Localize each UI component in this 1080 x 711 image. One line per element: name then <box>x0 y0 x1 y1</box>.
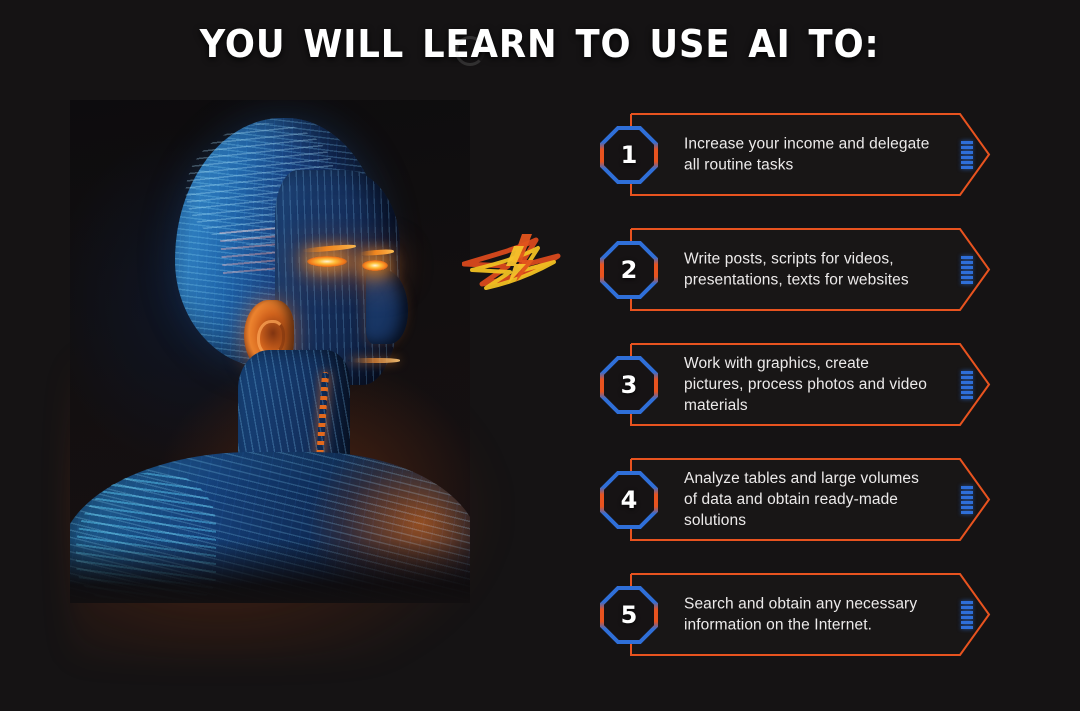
list-item[interactable]: 5 Search and obtain any necessary inform… <box>600 566 1000 663</box>
mouth-line <box>348 358 400 363</box>
list-item-text: Analyze tables and large volumes of data… <box>684 467 932 531</box>
learning-points-list: 1 Increase your income and delegate all … <box>600 106 1000 681</box>
glowing-eye-right <box>362 260 388 271</box>
list-item[interactable]: 2 Write posts, scripts for videos, prese… <box>600 221 1000 318</box>
banner-tick-marks <box>961 486 973 514</box>
ai-humanoid-image <box>70 100 470 603</box>
banner-tick-marks <box>961 371 973 399</box>
page-title: YOU WILL LEARN TO USE AI TO: <box>200 22 880 66</box>
banner-tick-marks <box>961 141 973 169</box>
list-item-text: Search and obtain any necessary informat… <box>684 593 932 636</box>
list-item-number: 2 <box>600 241 658 299</box>
banner-tick-marks <box>961 256 973 284</box>
list-item-number-badge[interactable]: 3 <box>600 356 658 414</box>
list-item[interactable]: 4 Analyze tables and large volumes of da… <box>600 451 1000 548</box>
list-item-number: 1 <box>600 126 658 184</box>
page-title-container: YOU WILL LEARN TO USE AI TO: <box>0 22 1080 66</box>
list-item-number-badge[interactable]: 5 <box>600 586 658 644</box>
glowing-eye-left <box>307 256 347 267</box>
list-item-text: Increase your income and delegate all ro… <box>684 133 932 176</box>
list-item-number-badge[interactable]: 4 <box>600 471 658 529</box>
nose-shape <box>366 270 408 344</box>
list-item-number: 3 <box>600 356 658 414</box>
list-item-number-badge[interactable]: 1 <box>600 126 658 184</box>
list-item[interactable]: 1 Increase your income and delegate all … <box>600 106 1000 203</box>
list-item-number: 4 <box>600 471 658 529</box>
infographic-slide: YOU WILL LEARN TO USE AI TO: <box>0 0 1080 711</box>
list-item-text: Write posts, scripts for videos, present… <box>684 248 932 291</box>
lightning-bolt-icon <box>462 226 586 304</box>
image-bottom-fade <box>70 539 470 603</box>
banner-tick-marks <box>961 601 973 629</box>
list-item-text: Work with graphics, create pictures, pro… <box>684 352 932 416</box>
list-item-number: 5 <box>600 586 658 644</box>
list-item-number-badge[interactable]: 2 <box>600 241 658 299</box>
list-item[interactable]: 3 Work with graphics, create pictures, p… <box>600 336 1000 433</box>
